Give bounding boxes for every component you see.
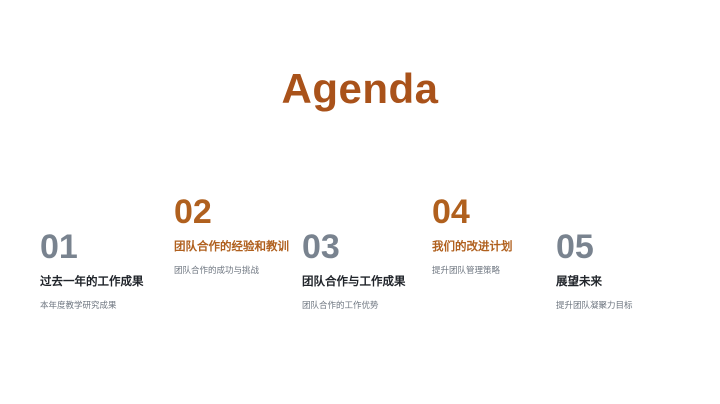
agenda-list: 01 过去一年的工作成果 本年度教学研究成果 02 团队合作的经验和教训 团队合…	[0, 190, 720, 340]
agenda-item-number: 05	[556, 230, 706, 266]
agenda-item-number: 03	[302, 230, 452, 266]
page-title: Agenda	[0, 68, 720, 110]
agenda-item-title: 团队合作与工作成果	[302, 276, 452, 290]
agenda-item-subtitle: 团队合作的工作优势	[302, 300, 452, 310]
agenda-item-01[interactable]: 01 过去一年的工作成果 本年度教学研究成果	[40, 230, 190, 311]
agenda-item-title: 过去一年的工作成果	[40, 276, 190, 290]
agenda-item-03[interactable]: 03 团队合作与工作成果 团队合作的工作优势	[302, 230, 452, 311]
agenda-item-05[interactable]: 05 展望未来 提升团队凝聚力目标	[556, 230, 706, 311]
agenda-item-number: 02	[174, 195, 324, 231]
agenda-item-number: 04	[432, 195, 582, 231]
agenda-item-subtitle: 本年度教学研究成果	[40, 300, 190, 310]
presentation-slide: Agenda 01 过去一年的工作成果 本年度教学研究成果 02 团队合作的经验…	[0, 0, 720, 404]
agenda-item-number: 01	[40, 230, 190, 266]
agenda-item-subtitle: 提升团队凝聚力目标	[556, 300, 706, 310]
agenda-item-title: 展望未来	[556, 276, 706, 290]
